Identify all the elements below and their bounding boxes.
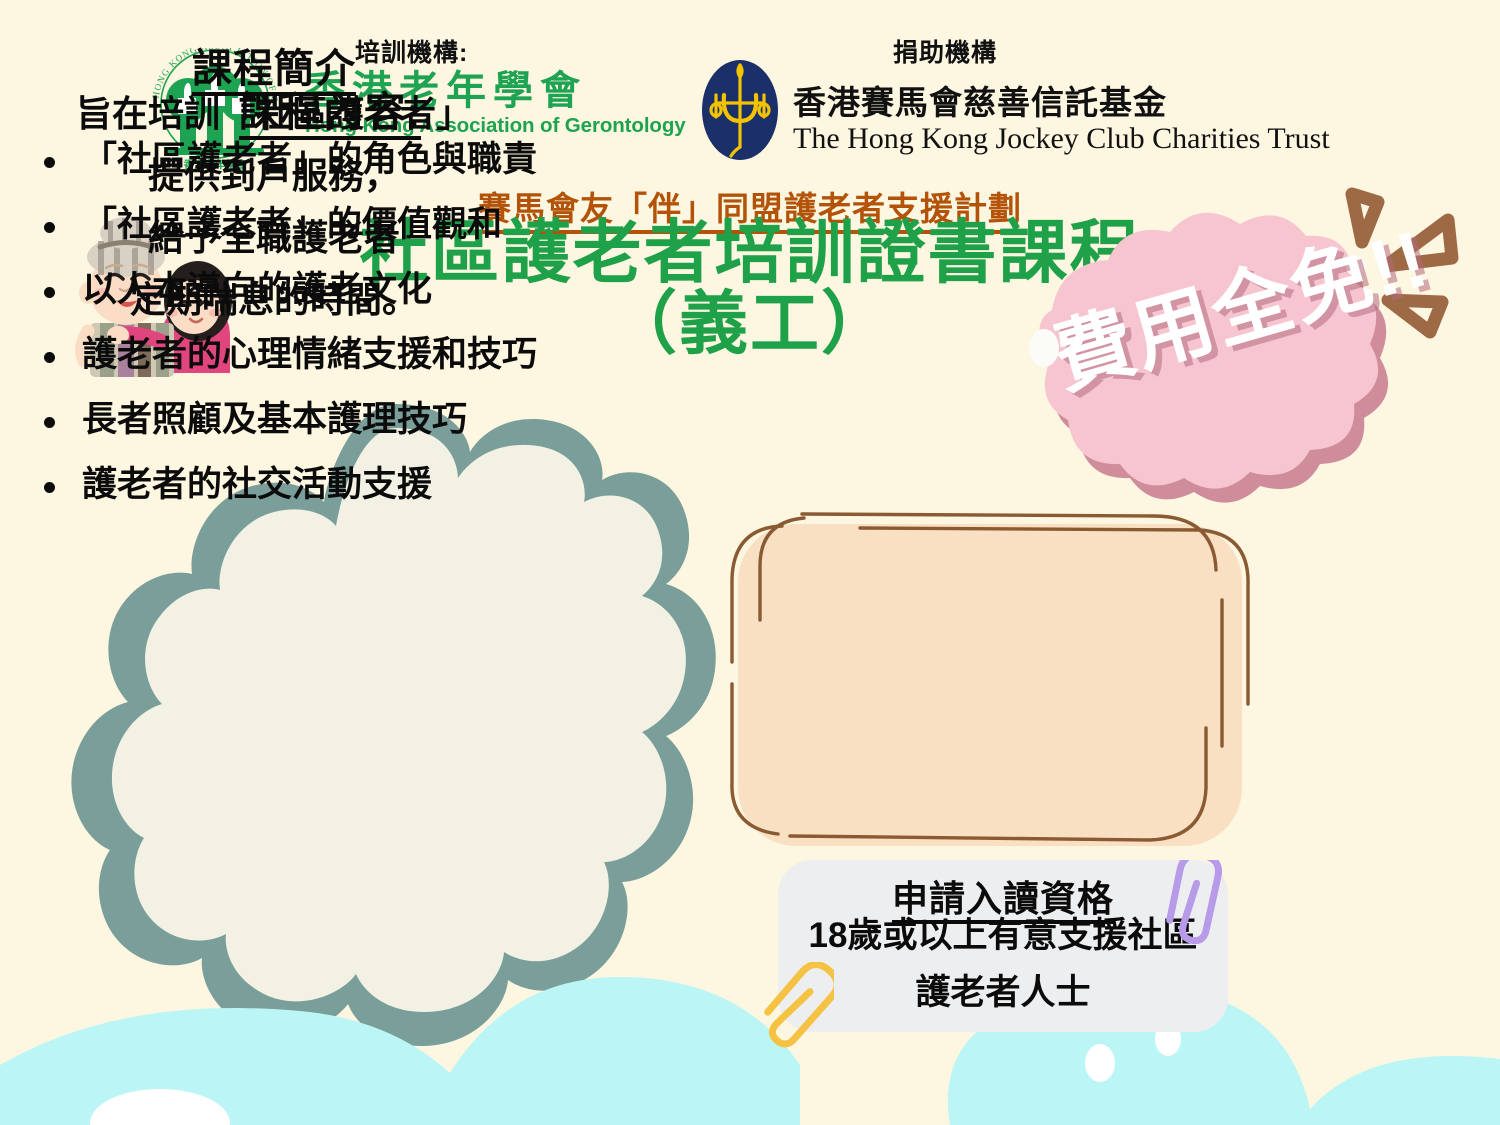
poster-canvas: 培訓機構: 香港老年學會 [0,0,1500,1125]
course-intro-box [716,508,1264,860]
intro-line: 旨在培訓「社區護老者」 [0,96,548,132]
intro-line: 給予全職護老者 [0,220,548,256]
intro-box-fill [738,524,1242,846]
funding-org-name-en: The Hong Kong Jockey Club Charities Trus… [793,122,1330,156]
hkjc-logo-icon [700,55,780,165]
list-item: 護老者的社交活動支援 [20,467,650,502]
paperclip-purple-icon [1160,860,1230,950]
funding-org-name-block: 香港賽馬會慈善信託基金 The Hong Kong Jockey Club Ch… [793,76,1330,156]
course-intro-body: 旨在培訓「社區護老者」 提供到戶服務， 給予全職護老者 定期喘息的時間。 [0,96,548,344]
course-intro-heading-text: 課程簡介 [192,47,356,96]
course-intro-heading: 課程簡介 [0,36,548,94]
funding-org-name-cn: 香港賽馬會慈善信託基金 [793,76,1330,124]
intro-line: 提供到戶服務， [0,158,548,194]
paperclip-yellow-icon [762,962,834,1054]
funding-org-label: 捐助機構 [893,33,997,69]
list-item: 長者照顧及基本護理技巧 [20,402,650,437]
intro-line: 定期喘息的時間。 [0,282,548,318]
